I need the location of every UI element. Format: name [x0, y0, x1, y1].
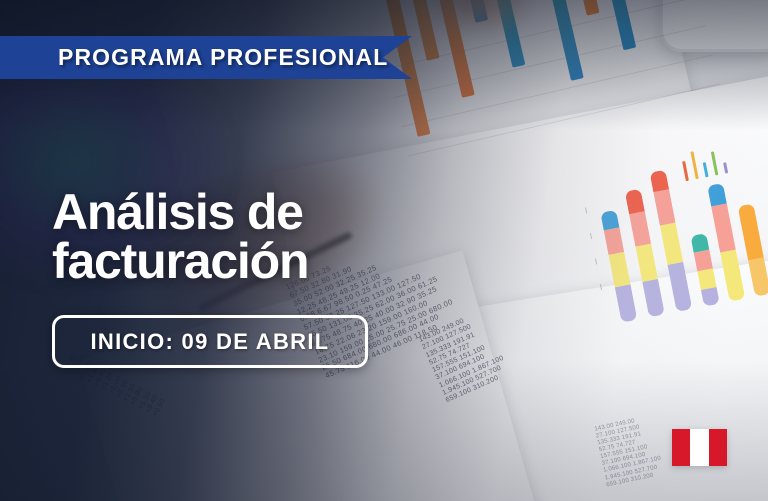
- flag-band-red-right: [709, 429, 727, 466]
- start-date-badge: INICIO: 09 DE ABRIL: [52, 315, 368, 368]
- peru-flag-icon: [672, 429, 727, 466]
- ribbon-label: PROGRAMA PROFESIONAL: [58, 44, 388, 71]
- page-title: Análisis de facturación: [52, 188, 482, 286]
- title-line-2: facturación: [52, 237, 482, 286]
- title-line-1: Análisis de: [52, 184, 303, 240]
- promo-banner-image: 126.00 73.25 67.50 32.80 31.90 35.00 52.…: [0, 0, 768, 501]
- flag-band-white: [690, 429, 708, 466]
- program-ribbon: PROGRAMA PROFESIONAL: [0, 36, 412, 79]
- start-date-label: INICIO: 09 DE ABRIL: [90, 329, 329, 355]
- flag-band-red-left: [672, 429, 690, 466]
